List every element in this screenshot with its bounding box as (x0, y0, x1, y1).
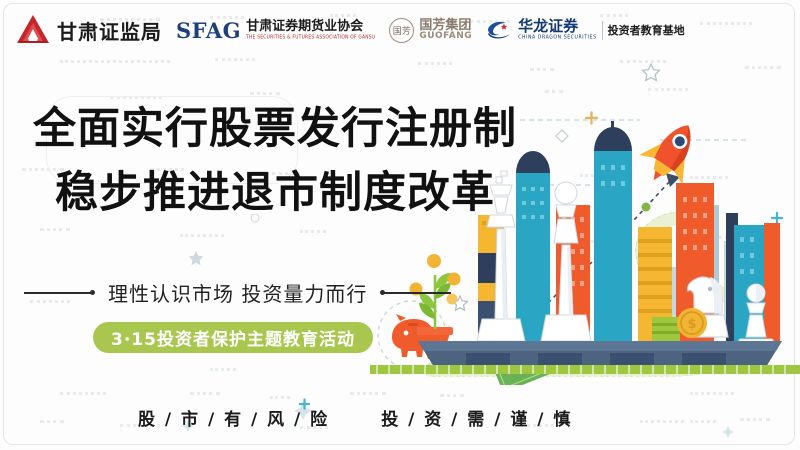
logo-gansu-csrc: 甘肃证监局 (16, 14, 162, 46)
subtitle-rule-left (24, 292, 92, 294)
headline-line-1: 全面实行股票发行注册制 (33, 108, 800, 151)
svg-text:$: $ (687, 317, 696, 332)
hualong-divider (602, 21, 603, 40)
logo-hualong: 华龙证券 CHINA DRAGON SECURITIES 投资者教育基地 (486, 19, 684, 40)
dragon-wave-logo-icon (486, 20, 514, 40)
header-logo-bar: 甘肃证监局 SFAG 甘肃证券期货业协会 THE SECURITIES & FU… (0, 6, 800, 54)
guofang-seal-logo-icon: 国芳 (389, 18, 414, 43)
slogan-caution: 投 / 资 / 需 / 谨 / 慎 (381, 405, 572, 430)
sfag-cn-label: 甘肃证券期货业协会 (246, 20, 375, 34)
headline-line-2: 稳步推进退市制度改革 (55, 172, 800, 215)
subtitle-row: 理性认识市场 投资量力而行 (24, 278, 451, 307)
logo-guofang: 国芳 国芳集团 GUOFANG (389, 18, 472, 43)
campaign-badge: 3·15投资者保护主题教育活动 (93, 322, 373, 353)
subtitle-rule-right (383, 292, 451, 294)
guofang-seal-text: 国芳 (393, 24, 411, 37)
logo-sfag: SFAG 甘肃证券期货业协会 THE SECURITIES & FUTURES … (176, 18, 375, 43)
sfag-abbr-label: SFAG (176, 18, 241, 43)
road-coin-icon: $ (677, 308, 707, 338)
subtitle-text: 理性认识市场 投资量力而行 (108, 278, 367, 307)
headline-block: 全面实行股票发行注册制 稳步推进退市制度改革 (0, 108, 800, 215)
sfag-en-label: THE SECURITIES & FUTURES ASSOCIATION OF … (246, 35, 375, 41)
guofang-en-label: GUOFANG (419, 32, 472, 41)
csrc-label: 甘肃证监局 (57, 16, 162, 45)
hualong-en-label: CHINA DRAGON SECURITIES (518, 36, 596, 42)
ship-hull-icon (418, 341, 782, 367)
bottom-slogans: 股 / 市 / 有 / 风 / 险 投 / 资 / 需 / 谨 / 慎 (0, 405, 800, 430)
poster-canvas: 甘肃证监局 SFAG 甘肃证券期货业协会 THE SECURITIES & FU… (0, 0, 800, 450)
hualong-base-label: 投资者教育基地 (608, 22, 685, 38)
slogan-risk: 股 / 市 / 有 / 风 / 险 (138, 405, 329, 430)
csrc-triangle-logo-icon (16, 14, 50, 46)
hualong-cn-label: 华龙证券 (518, 19, 596, 34)
